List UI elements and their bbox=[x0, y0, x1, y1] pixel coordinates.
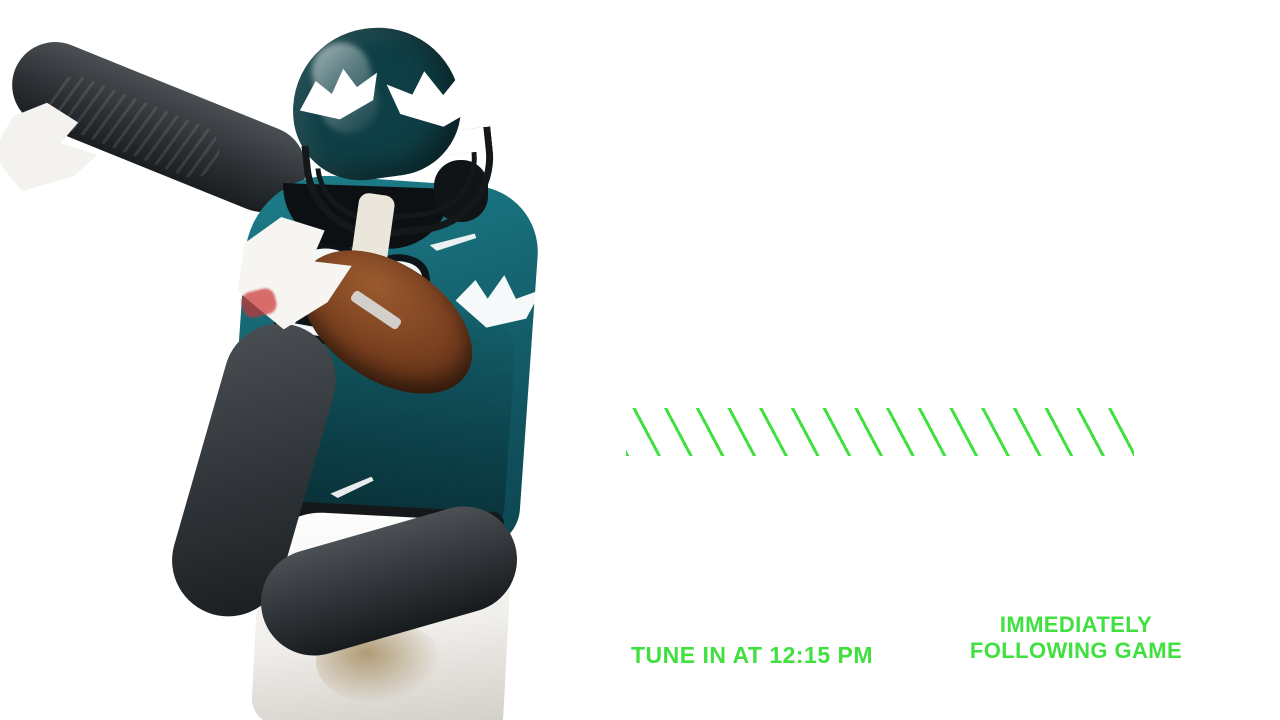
postgame-show-logo: THE POSTGAME SHOW PRESENTED BY RICOH bbox=[938, 480, 1230, 598]
axalta-trademark-icon: ® bbox=[863, 578, 870, 588]
postgame-top-rules bbox=[991, 488, 1231, 502]
green-diagonal-stripes bbox=[626, 408, 1134, 456]
postgame-bottom-rule bbox=[938, 594, 1076, 598]
postgame-show-row: SHOW PRESENTED BY RICOH bbox=[938, 545, 1230, 593]
ricoh-sponsor-wordmark[interactable]: RICOH bbox=[1081, 560, 1209, 587]
postgame-wordmark: POSTGAME bbox=[938, 503, 1230, 547]
kickoff-show-logo: THE KICKOFF SHOW PRESENTED BY AXA bbox=[620, 480, 900, 614]
postgame-caption-line2: FOLLOWING GAME bbox=[930, 638, 1222, 664]
page-title: GAMEDAY SCHEDULE bbox=[626, 224, 1226, 384]
kickoff-show-block[interactable]: THE KICKOFF SHOW PRESENTED BY AXA bbox=[620, 480, 900, 614]
axalta-a-mark-icon bbox=[794, 524, 854, 574]
postgame-caption-line1: IMMEDIATELY bbox=[930, 612, 1222, 638]
kickoff-bottom-rule-single bbox=[620, 610, 758, 614]
kickoff-show-word: SHOW bbox=[620, 549, 765, 595]
player-photo: 26 bbox=[30, 8, 610, 720]
headline-line-schedule: SCHEDULE bbox=[692, 308, 1247, 384]
postgame-timing-caption: IMMEDIATELY FOLLOWING GAME bbox=[930, 612, 1222, 664]
axalta-sponsor-logo[interactable]: AXALTA® bbox=[768, 524, 880, 600]
axalta-wordmark: AXALTA® bbox=[768, 576, 880, 600]
content-column: GAMEDAY SCHEDULE THE KICKOFF SHOW PRESEN… bbox=[612, 0, 1232, 720]
postgame-presented-block: PRESENTED BY RICOH bbox=[1081, 545, 1209, 593]
poster-canvas: 26 GAMEDAY SCHEDULE bbox=[0, 0, 1280, 720]
kickoff-tune-in-caption: TUNE IN AT 12:15 PM bbox=[612, 642, 892, 668]
kickoff-bottom-rules bbox=[620, 597, 784, 609]
headline-line-gameday: GAMEDAY bbox=[626, 224, 1256, 308]
axalta-wordmark-text: AXALTA bbox=[778, 576, 863, 599]
postgame-show-word: SHOW bbox=[938, 549, 1071, 593]
postgame-the-row: THE bbox=[938, 480, 1230, 502]
postgame-show-block[interactable]: THE POSTGAME SHOW PRESENTED BY RICOH bbox=[938, 480, 1230, 598]
